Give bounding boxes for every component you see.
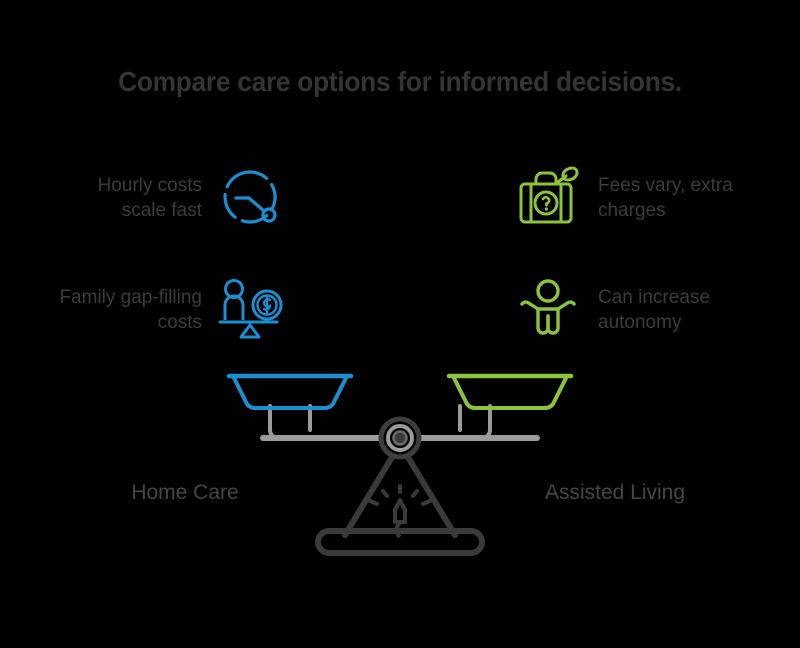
feature-left-1: Hourly costs scale fast [0, 164, 400, 232]
feature-right-1: Fees vary, extra charges [400, 164, 800, 232]
feature-left-2: Family gap-filling costs [0, 276, 400, 344]
feature-label-can-increase-autonomy: Can increase autonomy [598, 285, 710, 335]
category-label-home-care: Home Care [60, 481, 310, 505]
briefcase-question-tag-icon [512, 164, 584, 232]
feature-label-family-gap-filling: Family gap-filling costs [59, 285, 202, 335]
feature-right-2: Can increase autonomy [400, 276, 800, 344]
category-label-assisted-living: Assisted Living [490, 481, 740, 505]
page-title: Compare care options for informed decisi… [24, 66, 776, 98]
feature-label-fees-vary: Fees vary, extra charges [598, 173, 733, 223]
person-arms-raised-icon [512, 276, 584, 344]
balance-scale-graphic [215, 360, 585, 570]
clock-dashed-icon [216, 164, 288, 232]
feature-label-hourly-costs: Hourly costs scale fast [97, 173, 202, 223]
person-money-balance-icon [216, 276, 288, 344]
feature-row-1: Hourly costs scale fast [0, 160, 800, 236]
feature-row-2: Family gap-filling costs [0, 272, 800, 348]
infographic-canvas: Compare care options for informed decisi… [0, 0, 800, 648]
